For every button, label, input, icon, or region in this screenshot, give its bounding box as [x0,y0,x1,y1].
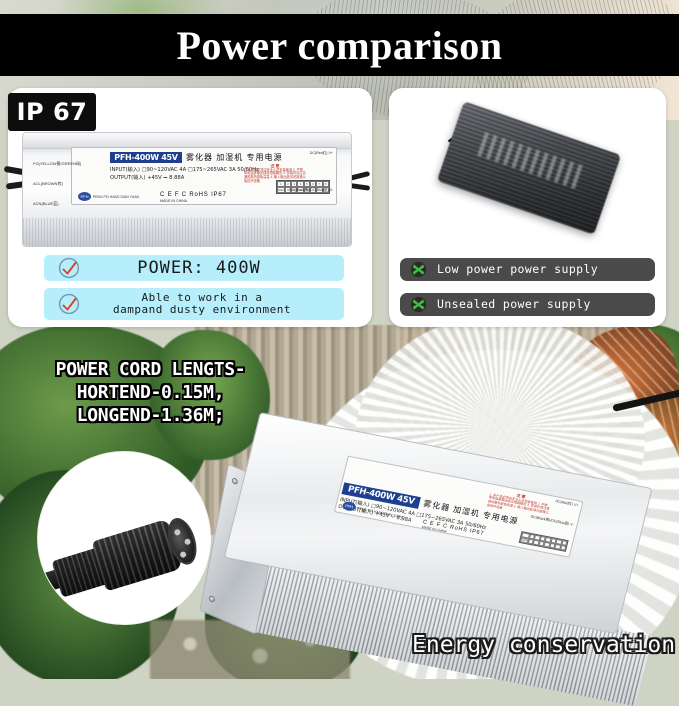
terminal-label-acn: ACN(BLUE蓝) [33,201,59,207]
dark-power-supply-photo [404,100,652,248]
feature-row-power: POWER: 400W [44,255,344,281]
date-code-grid: 2024 [519,531,569,552]
label-model: PFH-400W 45V [110,152,182,163]
terminal-label-vminus: DC(Black黑)/DC(Blue蓝) V- [289,188,333,193]
brand-logo-icon: PFH [78,192,91,201]
check-circle-icon [58,257,80,279]
heatsink-fins [23,218,351,246]
page-title: Power comparison [176,22,502,69]
check-circle-icon [58,293,80,315]
feature-label-low-power: Low power power supply [427,263,655,276]
feature-row-unsealed: Unsealed power supply [400,293,655,316]
psu-housing: PFH-400W 45V 雾化器 加湿机 专用电源 INPUT(输入) □90~… [22,132,352,247]
green-x-icon [410,261,427,278]
terminal-label-acl: ACL(BROWN棕) [33,181,63,187]
terminal-label-vplus: DC(Red红) V+ [555,499,579,508]
brand-name: PENG FEI HANG DIAN YUAN [93,195,139,199]
feature-label-unsealed: Unsealed power supply [427,298,655,311]
label-certifications: C E F C RoHS IP67 [160,192,227,198]
ip-rating-label: IP 67 [17,98,88,126]
green-x-icon [410,296,427,313]
label-warning-block: 注 意 1. 本产品必须由专业人员安装使用 2. 严禁带电插拔输出线及短路输出 … [484,488,552,529]
energy-conservation-text: Energy conservation ( [412,632,679,658]
ip-rating-badge: IP 67 [8,93,96,131]
feature-row-low-power: Low power power supply [400,258,655,281]
silver-power-supply-photo: PFH-400W 45V 雾化器 加湿机 专用电源 INPUT(输入) □90~… [22,132,352,247]
label-input-line: INPUT(输入) □90~120VAC 4A □175~265VAC 3A 5… [110,166,259,173]
date-grid-cell: 2024 [277,187,285,193]
title-banner: Power comparison [0,14,679,76]
label-made-in: MADE IN CHINA [160,199,187,203]
label-brand: PFH PENG FEI HANG DIAN YUAN [78,192,139,201]
power-cord-length-text: POWER CORD LENGTS- HORTEND-0.15M, LONGEN… [18,358,283,427]
psu-housing [437,101,621,234]
product-label: PFH-400W 45V 雾化器 加湿机 专用电源 INPUT(输入) □90~… [71,147,337,205]
date-grid-cell [560,545,567,551]
terminal-label-vplus: DC(Red红) V+ [310,151,333,156]
terminal-label-fg: FG(YELLOW黄/GREEN绿) [33,161,81,167]
waterproof-connector [42,513,201,607]
feature-label-power: POWER: 400W [80,259,344,278]
feature-label-damp: Able to work in a dampand dusty environm… [80,292,344,316]
feature-row-damp: Able to work in a dampand dusty environm… [44,288,344,320]
connector-photo-inset [38,452,210,624]
label-chinese-title: 雾化器 加湿机 专用电源 [186,152,282,163]
label-output-line: OUTPUT(输入) +45V ⎓ 8.88A [110,174,184,182]
